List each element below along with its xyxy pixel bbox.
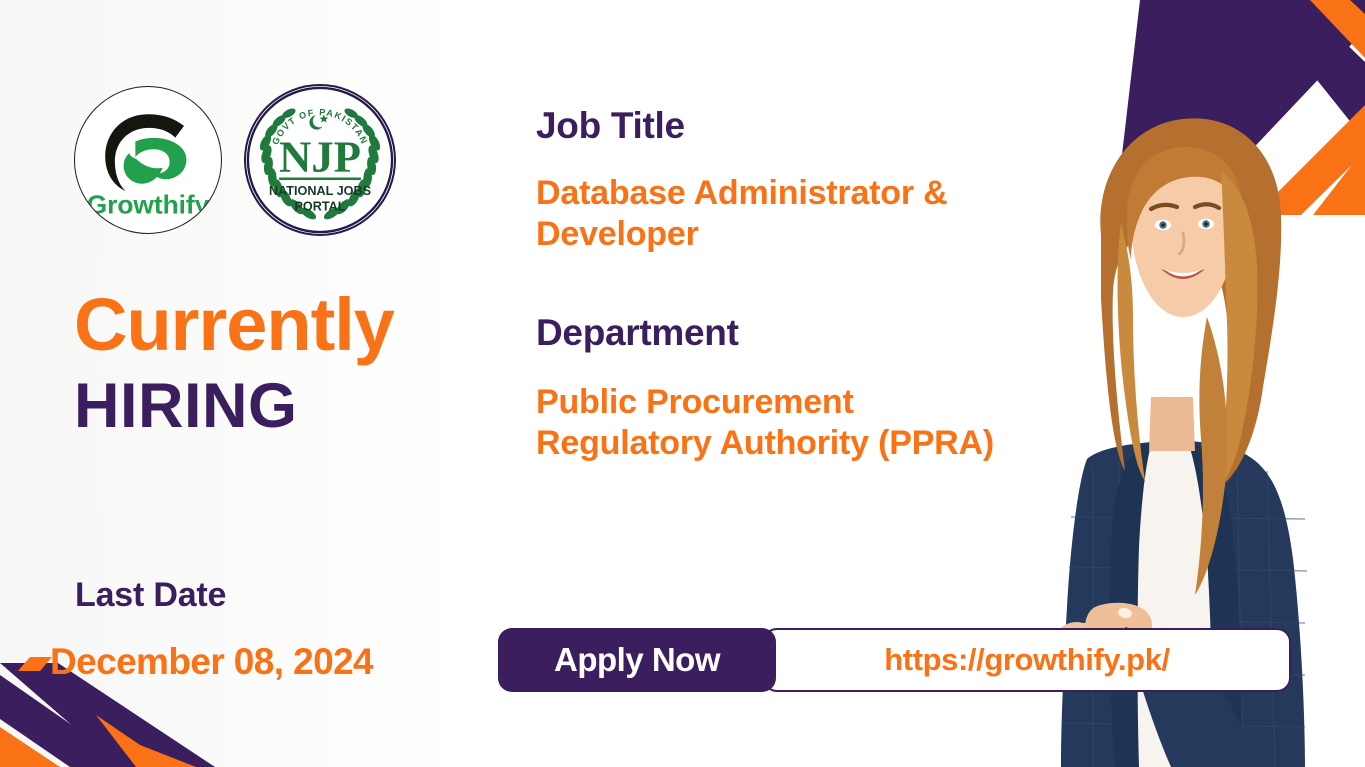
last-date-label: Last Date [75,576,373,615]
website-url-box[interactable]: https://growthify.pk/ [763,628,1291,692]
growthify-logo: Growthify [74,86,222,234]
apply-now-label: Apply Now [554,641,720,679]
growthify-wordmark: Growthify [87,190,210,220]
job-title-label: Job Title [536,106,1106,147]
poster-canvas: Growthify [0,0,1365,767]
apply-now-button[interactable]: Apply Now [498,628,776,692]
logo-group: Growthify [74,84,396,236]
department-label: Department [536,313,1006,354]
njp-monogram: NJP [279,132,361,182]
headline-line-hiring: HIRING [74,368,394,445]
last-date-value: December 08, 2024 [50,641,373,683]
growthify-leaf-g-logo-icon: Growthify [75,86,221,234]
headline-line-currently: Currently [74,288,394,362]
website-url-text: https://growthify.pk/ [884,642,1170,678]
job-title-value: Database Administrator & Developer [536,173,1106,256]
department-value: Public Procurement Regulatory Authority … [536,382,1006,465]
job-title-block: Job Title Database Administrator & Devel… [536,106,1106,256]
njp-logo: GOVT OF PAKISTAN NJP NATIONAL JOBS PORTA… [244,84,396,236]
cta-bar: https://growthify.pk/ Apply Now [498,628,1291,692]
department-block: Department Public Procurement Regulatory… [536,313,1006,465]
last-date-block: Last Date December 08, 2024 [75,576,373,683]
top-right-decoration [1105,0,1365,215]
njp-wreath-seal-logo-icon: GOVT OF PAKISTAN NJP NATIONAL JOBS PORTA… [246,84,394,236]
njp-line1: NATIONAL JOBS [269,184,371,198]
headline: Currently HIRING [74,288,394,445]
njp-line2: PORTAL [294,200,345,214]
